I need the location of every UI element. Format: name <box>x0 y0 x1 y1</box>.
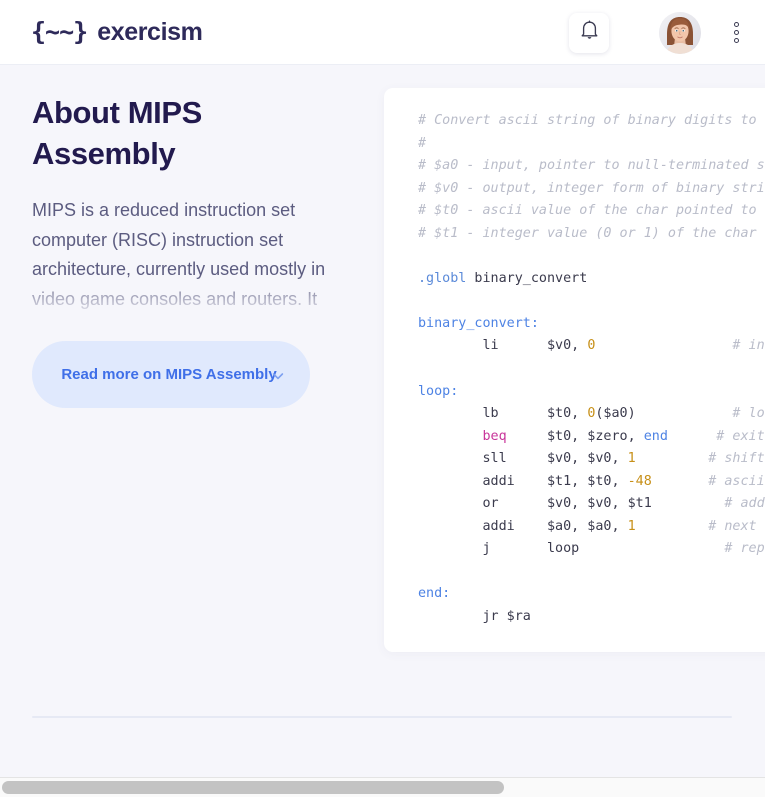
code-token: jr $ra <box>418 609 531 624</box>
code-token: 1 <box>628 519 636 534</box>
code-token: # Convert ascii string of binary digits … <box>418 113 765 128</box>
about-section: About MIPS Assembly MIPS is a reduced in… <box>32 92 332 408</box>
avatar[interactable] <box>659 12 701 54</box>
code-token: .globl <box>418 271 466 286</box>
code-token: # load char <box>636 406 765 421</box>
three-dots-vertical-icon[interactable] <box>725 16 747 50</box>
code-token: # $a0 - input, pointer to null-terminate… <box>418 158 765 173</box>
top-header: {~~} exercism <box>0 0 765 65</box>
code-token: loop: <box>418 384 458 399</box>
chevron-down-icon <box>271 368 285 382</box>
menu-dot <box>734 22 739 27</box>
code-token: addi $t1, $t0, <box>418 474 628 489</box>
read-more-label: Read more on MIPS Assembly <box>50 364 296 386</box>
bell-icon <box>580 20 599 46</box>
exercism-logo[interactable]: {~~} exercism <box>31 18 202 47</box>
code-token: sll $v0, $v0, <box>418 451 628 466</box>
code-token: li $v0, <box>418 338 587 353</box>
read-more-button[interactable]: Read more on MIPS Assembly <box>32 341 310 408</box>
code-token: binary_convert: <box>418 316 539 331</box>
code-token: # $t0 - ascii value of the char pointed … <box>418 203 765 218</box>
code-token: # shift output left <box>636 451 765 466</box>
code-token: # exit if null <box>668 429 765 444</box>
code-token: # ascii to int <box>652 474 765 489</box>
code-token: # <box>418 136 426 151</box>
code-token: # next char <box>636 519 765 534</box>
code-block: # Convert ascii string of binary digits … <box>384 110 765 629</box>
horizontal-scrollbar-thumb[interactable] <box>2 781 504 794</box>
code-token: or $v0, $v0, $t1 <box>418 496 652 511</box>
code-token: # $t1 - integer value (0 or 1) of the ch… <box>418 226 757 241</box>
section-divider <box>32 716 732 718</box>
code-token: $t0, $zero, <box>507 429 644 444</box>
page-title: About MIPS Assembly <box>32 92 262 174</box>
code-token: -48 <box>628 474 652 489</box>
code-token: lb $t0, <box>418 406 587 421</box>
menu-dot <box>734 30 739 35</box>
code-token: 1 <box>628 451 636 466</box>
page-content: About MIPS Assembly MIPS is a reduced in… <box>0 65 765 777</box>
code-token: # repeat <box>579 541 765 556</box>
avatar-photo <box>659 12 701 54</box>
code-token: end: <box>418 586 450 601</box>
menu-dot <box>734 38 739 43</box>
code-token: # add bit <box>652 496 765 511</box>
code-token: # initialize output <box>595 338 765 353</box>
about-description: MIPS is a reduced instruction set comput… <box>32 196 332 316</box>
logo-wordmark: exercism <box>97 18 202 47</box>
logo-brace-icon: {~~} <box>31 19 87 44</box>
code-token: beq <box>483 429 507 444</box>
code-token: binary_convert <box>466 271 587 286</box>
code-token: addi $a0, $a0, <box>418 519 628 534</box>
code-token: end <box>644 429 668 444</box>
code-token: # $v0 - output, integer form of binary s… <box>418 181 765 196</box>
horizontal-scrollbar[interactable] <box>0 777 765 797</box>
code-token: j loop <box>418 541 579 556</box>
code-snippet-card: # Convert ascii string of binary digits … <box>384 88 765 652</box>
code-token <box>418 429 483 444</box>
code-token: ($a0) <box>595 406 635 421</box>
header-actions <box>569 0 765 65</box>
notifications-button[interactable] <box>569 13 609 53</box>
